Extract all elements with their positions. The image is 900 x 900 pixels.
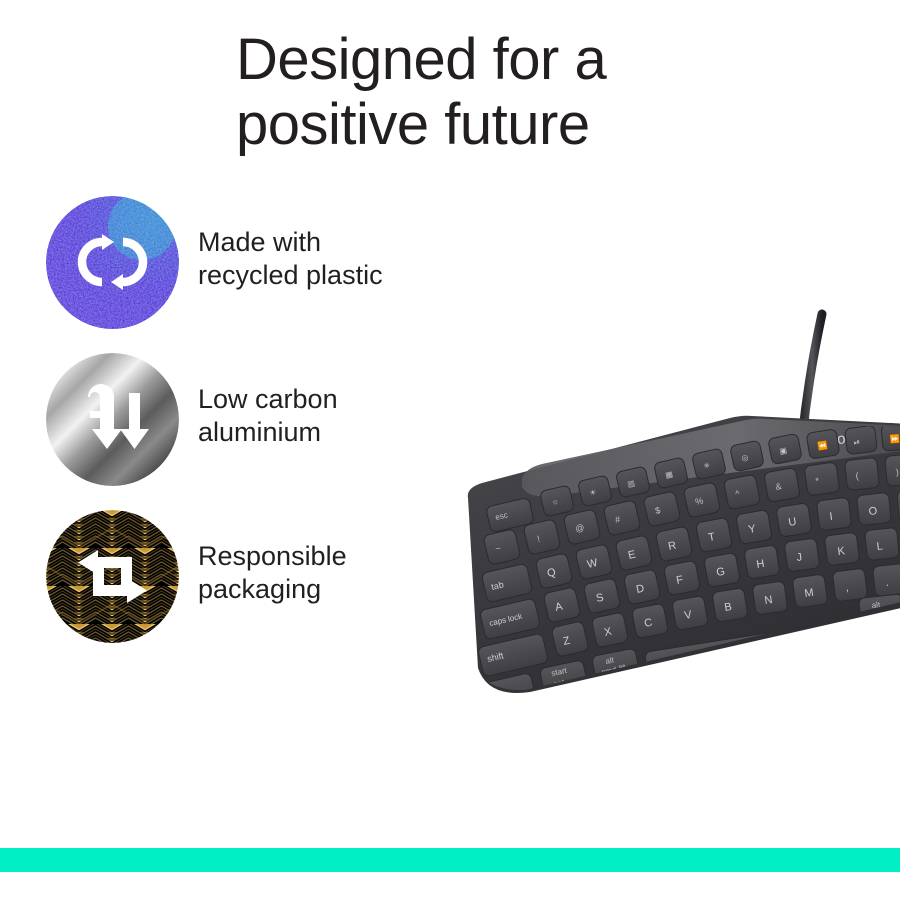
responsible-packaging-badge bbox=[46, 510, 179, 643]
feature-item: Low carbon aluminium bbox=[46, 353, 466, 510]
feature-label: Made with recycled plastic bbox=[198, 226, 478, 292]
aluminium-down-arrow-icon bbox=[46, 353, 179, 486]
svg-text:L: L bbox=[876, 540, 883, 553]
svg-text:⏩: ⏩ bbox=[889, 433, 900, 444]
svg-text:O: O bbox=[868, 505, 878, 518]
page-title: Designed for a positive future bbox=[236, 28, 856, 158]
svg-text:M: M bbox=[804, 587, 815, 600]
brand-accent-bar bbox=[0, 848, 900, 872]
svg-text:⏪: ⏪ bbox=[817, 440, 828, 451]
logitech-keyboard: logi bbox=[430, 300, 900, 720]
feature-list: Made with recycled plastic bbox=[46, 196, 466, 667]
svg-text:⏯: ⏯ bbox=[853, 437, 860, 447]
feature-item: Made with recycled plastic bbox=[46, 196, 466, 353]
feature-item: Responsible packaging bbox=[46, 510, 466, 667]
recycled-plastic-badge bbox=[46, 196, 179, 329]
package-loop-arrow-icon bbox=[46, 510, 179, 643]
low-carbon-aluminium-badge bbox=[46, 353, 179, 486]
recycle-loop-icon bbox=[46, 196, 179, 329]
promo-graphic: Designed for a positive future bbox=[0, 0, 900, 900]
